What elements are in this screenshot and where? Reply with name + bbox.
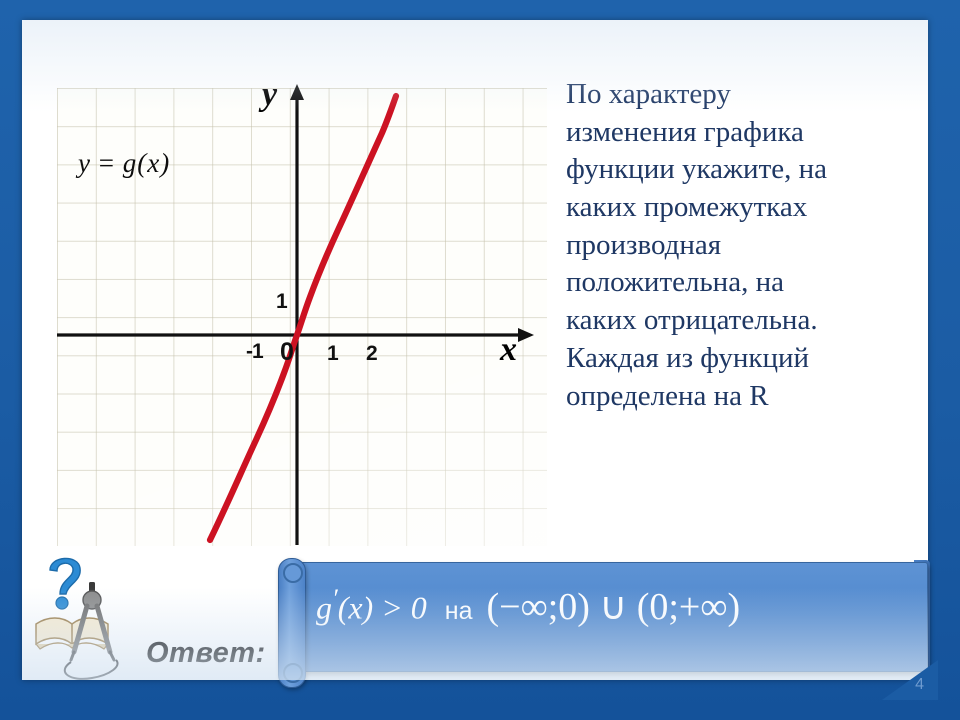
slide: y x 1 -1 0 1 2 y = g(x) По характеру изм… <box>0 0 960 720</box>
question-line-3: функции укажите, на <box>566 151 914 189</box>
question-text-block: По характеру изменения графика функции у… <box>566 76 914 415</box>
question-line-5: производная <box>566 227 914 265</box>
question-line-6: положительна, на <box>566 264 914 302</box>
question-line-8: Каждая из функций <box>566 340 914 378</box>
answer-content: g′(x) > 0 на (−∞;0) ∪ (0;+∞) <box>316 584 740 629</box>
function-annotation-g: g(x) <box>123 148 170 178</box>
open-book-icon <box>36 618 108 649</box>
answer-connector: на <box>445 597 473 626</box>
answer-formula-rest: (x) > 0 <box>338 590 427 626</box>
tick-label-x-1: 1 <box>327 343 339 364</box>
question-line-2: изменения графика <box>566 114 914 152</box>
function-annotation: y = g(x) <box>78 148 170 179</box>
answer-interval: (−∞;0) ∪ (0;+∞) <box>487 584 741 629</box>
page-corner-fold <box>882 660 938 700</box>
x-axis-label: x <box>500 333 517 367</box>
tick-label-x-minus-1: -1 <box>246 341 263 362</box>
question-line-1: По характеру <box>566 76 914 114</box>
tick-label-x-2: 2 <box>366 343 378 364</box>
function-annotation-equals: = <box>91 148 123 178</box>
banner-roll-left <box>278 558 306 688</box>
question-mark-icon <box>50 558 80 609</box>
function-annotation-y: y <box>78 148 91 178</box>
question-line-9: определена на R <box>566 378 914 416</box>
tick-label-y-1: 1 <box>276 291 288 312</box>
question-line-4: каких промежутках <box>566 189 914 227</box>
answer-formula-g: g <box>316 590 332 626</box>
tick-label-x-0: 0 <box>280 340 294 365</box>
answer-formula: g′(x) > 0 <box>316 584 427 627</box>
page-number: 4 <box>915 676 924 694</box>
y-axis-label: y <box>262 78 277 112</box>
question-line-7: каких отрицательна. <box>566 302 914 340</box>
answer-banner: g′(x) > 0 на (−∞;0) ∪ (0;+∞) <box>266 562 926 684</box>
clipart-group <box>30 548 150 688</box>
answer-label: Ответ: <box>146 637 266 670</box>
